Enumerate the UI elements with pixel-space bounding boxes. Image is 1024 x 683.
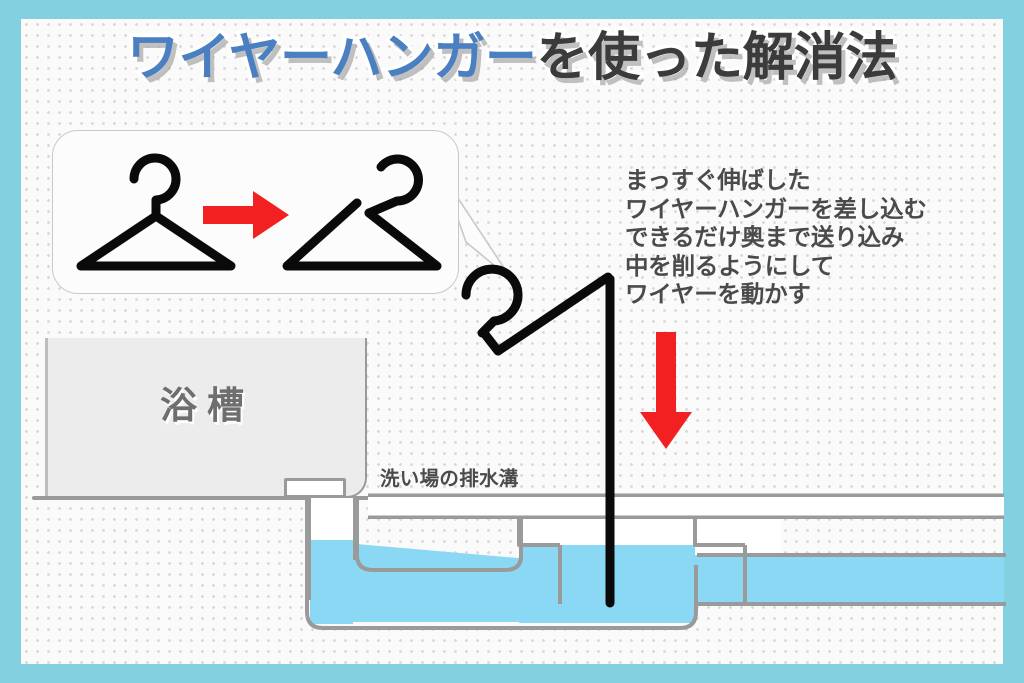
infographic-canvas: ワイヤーハンガーを使った解消法 まっすぐ伸ばした ワイヤーハンガーを bbox=[0, 0, 1024, 683]
outflow-water bbox=[693, 555, 1004, 602]
downpipe-water bbox=[311, 540, 353, 624]
drain-box-air-right bbox=[695, 519, 781, 555]
downpipe-air bbox=[311, 498, 353, 540]
straightened-wire-icon bbox=[440, 255, 640, 635]
floor-slab-right-fill bbox=[695, 497, 1004, 517]
